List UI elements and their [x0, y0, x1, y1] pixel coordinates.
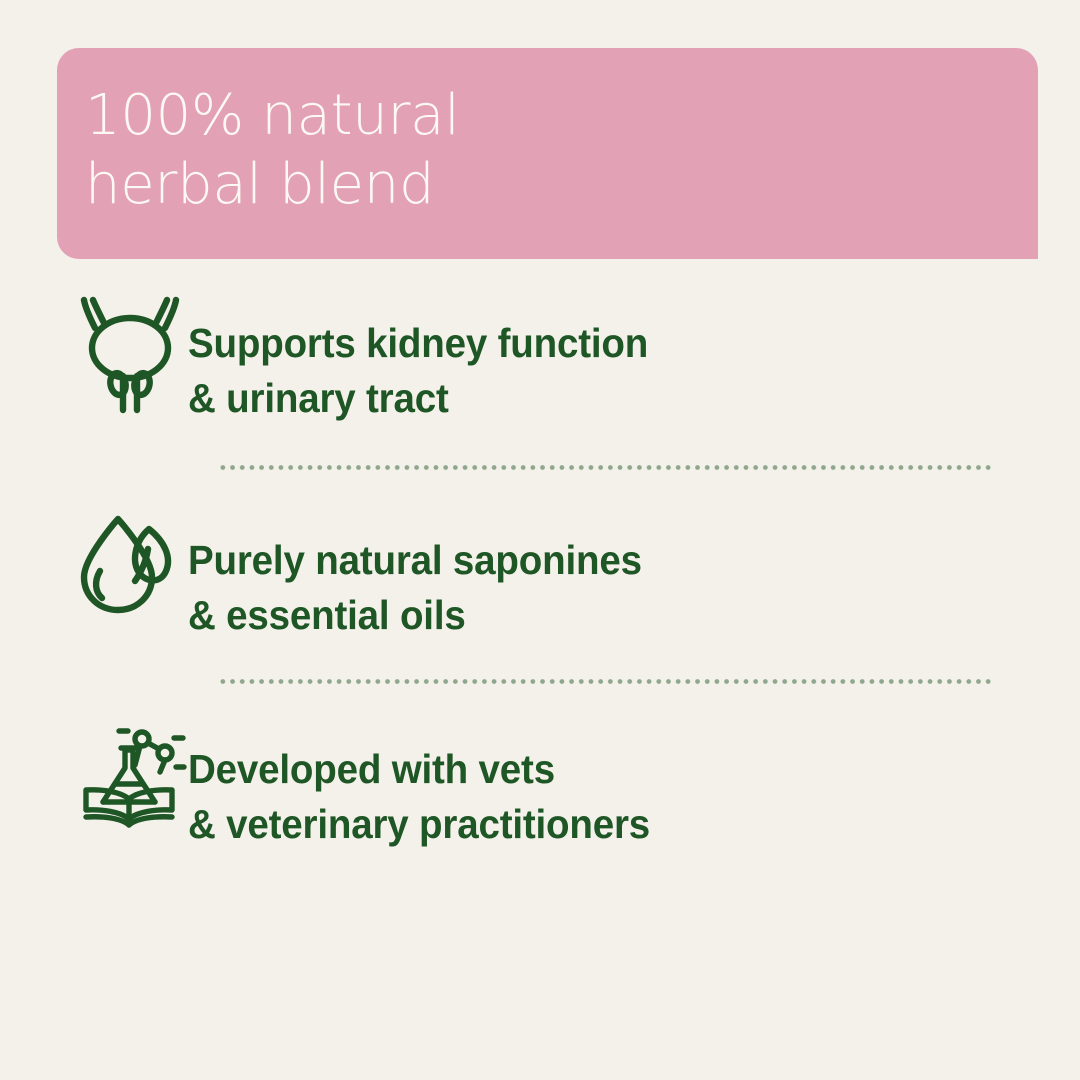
headline-banner: 100% natural herbal blend — [57, 48, 1038, 259]
bladder-urinary-tract-icon — [78, 296, 188, 414]
water-drop-leaf-icon — [78, 513, 188, 617]
feature-list: Supports kidney function & urinary tract… — [0, 296, 1080, 852]
feature-item-natural-saponines: Purely natural saponines & essential oil… — [0, 513, 1080, 643]
banner-title: 100% natural herbal blend — [85, 81, 1038, 219]
feature-item-kidney-function: Supports kidney function & urinary tract — [0, 296, 1080, 426]
feature-item-developed-with-vets: Developed with vets & veterinary practit… — [0, 722, 1080, 852]
feature-label: Developed with vets & veterinary practit… — [188, 722, 650, 852]
feature-label: Supports kidney function & urinary tract — [188, 296, 648, 426]
flask-book-molecule-icon — [78, 722, 188, 832]
feature-label: Purely natural saponines & essential oil… — [188, 513, 642, 643]
